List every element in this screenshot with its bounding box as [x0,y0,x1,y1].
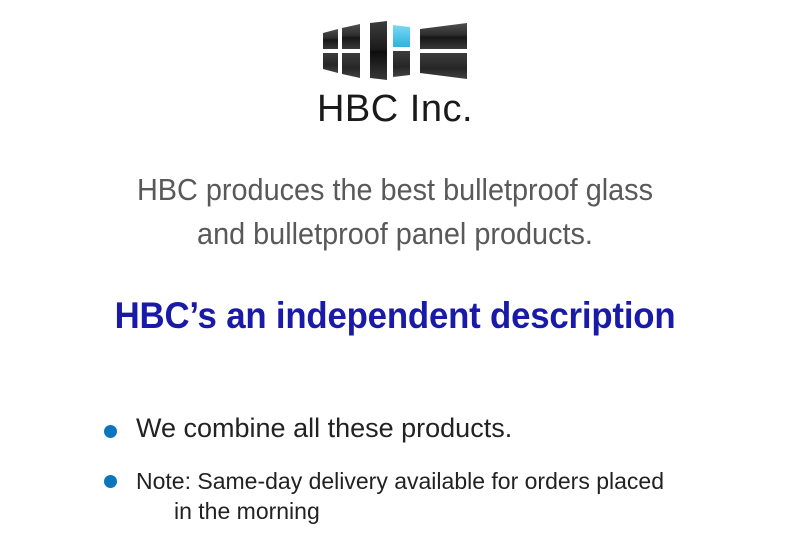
list-item: Note: Same-day delivery available for or… [104,466,764,527]
logo-right-group [420,23,467,79]
list-item-text-continuation: in the morning [136,496,664,527]
list-item-text: Note: Same-day delivery available for or… [136,466,664,527]
list-item-text-main: Note: Same-day delivery available for or… [136,468,664,494]
list-item: We combine all these products. [104,412,764,446]
bullet-dot-icon [104,475,117,488]
tagline-line-2: and bulletproof panel products. [28,212,763,256]
tagline: HBC produces the best bulletproof glass … [28,168,763,256]
hbc-panel-logo-icon [315,20,475,82]
page-title: HBC’s an independent description [24,295,767,338]
logo-block: HBC Inc. [0,20,790,130]
logo-wordmark: HBC Inc. [0,90,790,130]
list-item-text: We combine all these products. [136,412,512,446]
logo-left-group [323,24,360,78]
logo-center-group [370,21,410,80]
tagline-line-1: HBC produces the best bulletproof glass [28,168,763,212]
bullet-dot-icon [104,425,117,438]
bullet-list: We combine all these products. Note: Sam… [104,412,764,527]
